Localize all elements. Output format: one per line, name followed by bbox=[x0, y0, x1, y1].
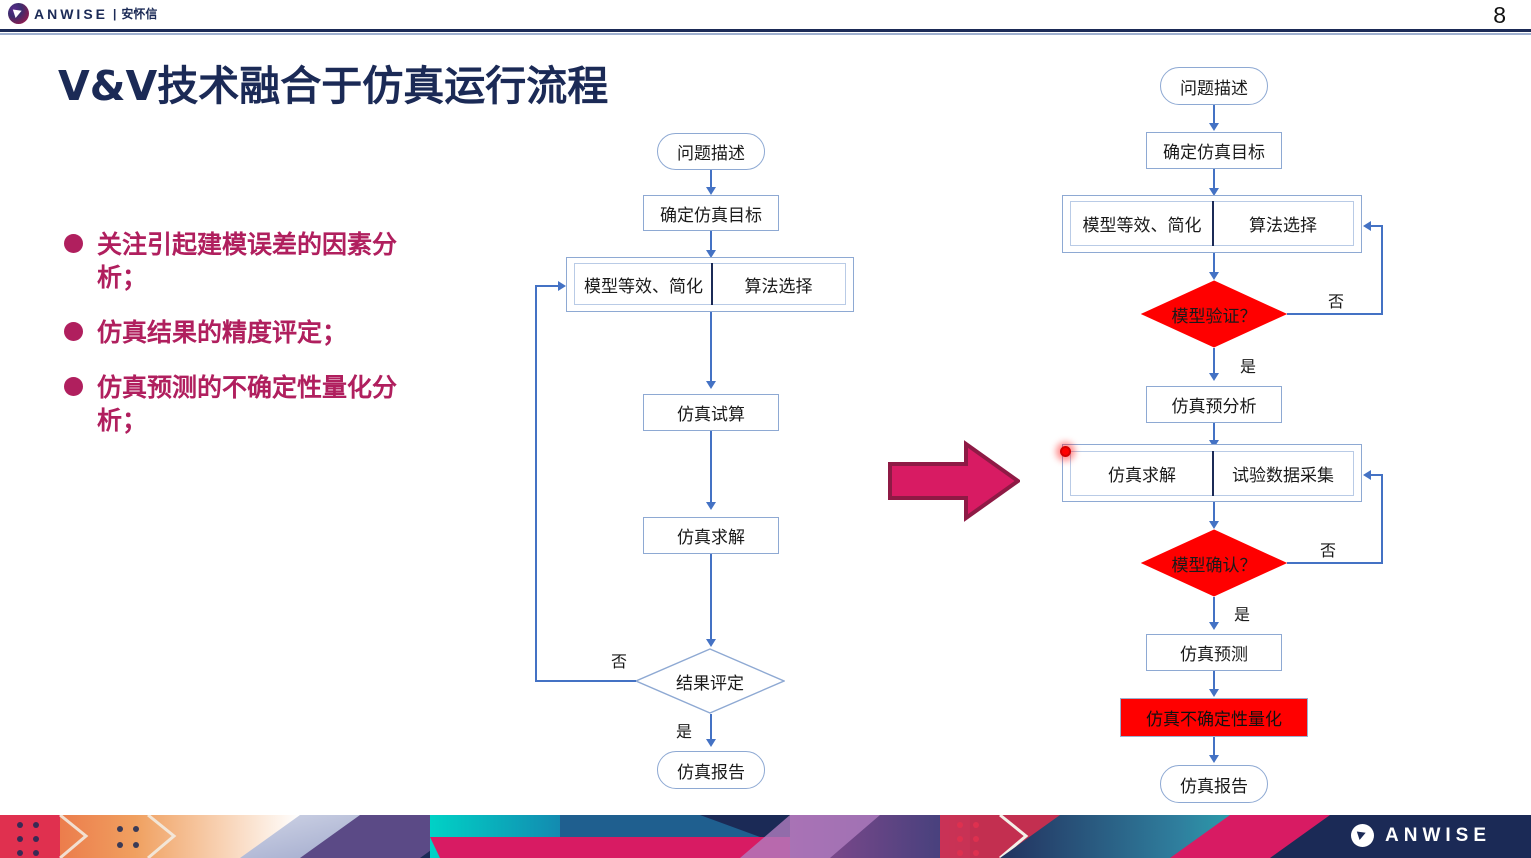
right-no2-v bbox=[1381, 474, 1383, 564]
slide: ANWISE | 安怀信 8 V&V技术融合于仿真运行流程 关注引起建模误差的因… bbox=[0, 0, 1531, 858]
right-connector-pre-solve bbox=[1213, 423, 1215, 441]
right-no2-arrow bbox=[1363, 470, 1371, 480]
anwise-footer-logo-icon bbox=[1351, 824, 1374, 847]
right-arrow-predict-uncert bbox=[1209, 689, 1219, 697]
right-arrow-validate-predict bbox=[1209, 622, 1219, 630]
right-connector-solve-validate bbox=[1213, 502, 1215, 522]
right-model-divider bbox=[1212, 201, 1214, 246]
right-solve-divider bbox=[1212, 451, 1214, 496]
right-no1-h bbox=[1287, 313, 1383, 315]
footer-brand-name: ANWISE bbox=[1385, 825, 1491, 847]
right-node-model-simplify: 模型等效、简化 bbox=[1070, 201, 1213, 246]
right-label-yes1: 是 bbox=[1240, 353, 1256, 377]
right-label-yes2: 是 bbox=[1234, 601, 1250, 625]
right-node-report: 仿真报告 bbox=[1160, 765, 1268, 803]
right-connector-start-goal bbox=[1213, 105, 1215, 124]
right-connector-model-verify bbox=[1213, 253, 1215, 273]
right-node-start: 问题描述 bbox=[1160, 67, 1268, 105]
right-no1-arrow bbox=[1363, 221, 1371, 231]
right-connector-verify-pre bbox=[1213, 348, 1215, 374]
right-node-algorithm: 算法选择 bbox=[1213, 201, 1354, 246]
right-arrow-uncert-report bbox=[1209, 755, 1219, 763]
right-connector-predict-uncert bbox=[1213, 671, 1215, 690]
right-node-uncertainty: 仿真不确定性量化 bbox=[1120, 698, 1308, 737]
slide-footer: ANWISE bbox=[0, 815, 1531, 858]
right-node-predict: 仿真预测 bbox=[1146, 634, 1282, 671]
right-connector-goal-model bbox=[1213, 169, 1215, 189]
right-node-verify: 模型验证？ bbox=[1141, 280, 1287, 348]
right-no2-h bbox=[1287, 562, 1383, 564]
right-label-no2: 否 bbox=[1320, 537, 1336, 561]
right-arrow-solve-validate bbox=[1209, 521, 1219, 529]
right-connector-validate-predict bbox=[1213, 597, 1215, 623]
right-no1-v bbox=[1381, 225, 1383, 315]
right-connector-uncert-report bbox=[1213, 737, 1215, 756]
right-node-solve: 仿真求解 bbox=[1070, 451, 1213, 496]
right-no1-h2 bbox=[1371, 225, 1383, 227]
right-node-pre-analysis: 仿真预分析 bbox=[1146, 386, 1282, 423]
right-node-goal: 确定仿真目标 bbox=[1146, 132, 1282, 169]
selection-handle-marker[interactable] bbox=[1060, 446, 1071, 457]
right-label-no1: 否 bbox=[1328, 288, 1344, 312]
right-arrow-verify-pre bbox=[1209, 373, 1219, 381]
footer-decorative-band bbox=[0, 815, 1531, 858]
right-node-validate: 模型确认？ bbox=[1141, 529, 1287, 597]
right-no2-h2 bbox=[1371, 474, 1383, 476]
footer-brand: ANWISE bbox=[1351, 824, 1491, 847]
right-flowchart: 问题描述 确定仿真目标 模型等效、简化 算法选择 模型验证？ 否 是 bbox=[0, 0, 1531, 820]
right-arrow-model-verify bbox=[1209, 272, 1219, 280]
right-arrow-start-goal bbox=[1209, 123, 1219, 131]
right-node-data-collect: 试验数据采集 bbox=[1213, 451, 1354, 496]
